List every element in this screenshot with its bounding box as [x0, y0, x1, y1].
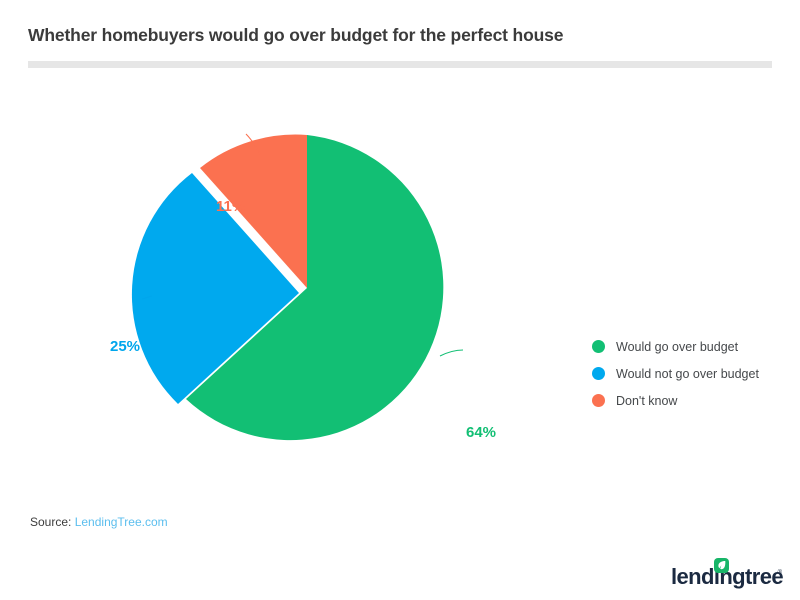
- pie-label-would-not-go-over-budget: 25%: [110, 338, 140, 355]
- legend-label-would-not-go-over-budget: Would not go over budget: [616, 367, 759, 381]
- pie-chart: [0, 80, 800, 480]
- logo-trademark: ®: [778, 570, 782, 576]
- chart-legend: Would go over budget Would not go over b…: [592, 333, 792, 414]
- legend-swatch-blue-icon: [592, 367, 605, 380]
- pie-label-would-go-over-budget: 64%: [466, 424, 496, 441]
- source-link[interactable]: LendingTree.com: [75, 515, 168, 529]
- pie-label-dont-know: 11%: [216, 198, 245, 215]
- legend-swatch-orange-icon: [592, 394, 605, 407]
- legend-item-would-not-go-over-budget[interactable]: Would not go over budget: [592, 360, 792, 387]
- title-divider: [28, 61, 772, 68]
- source-line: Source: LendingTree.com: [30, 515, 168, 529]
- legend-label-dont-know: Don't know: [616, 394, 677, 408]
- legend-label-would-go-over-budget: Would go over budget: [616, 340, 738, 354]
- legend-swatch-green-icon: [592, 340, 605, 353]
- pie-chart-plot-area: 64% 25% 11% Would go over budget Would n…: [0, 80, 800, 480]
- page-title: Whether homebuyers would go over budget …: [28, 25, 768, 46]
- lendingtree-logo[interactable]: lendingtree ®: [671, 558, 781, 588]
- source-prefix-label: Source:: [30, 515, 75, 529]
- leaf-icon: [714, 558, 729, 573]
- leader-line-green: [440, 350, 463, 356]
- legend-item-dont-know[interactable]: Don't know: [592, 387, 792, 414]
- legend-item-would-go-over-budget[interactable]: Would go over budget: [592, 333, 792, 360]
